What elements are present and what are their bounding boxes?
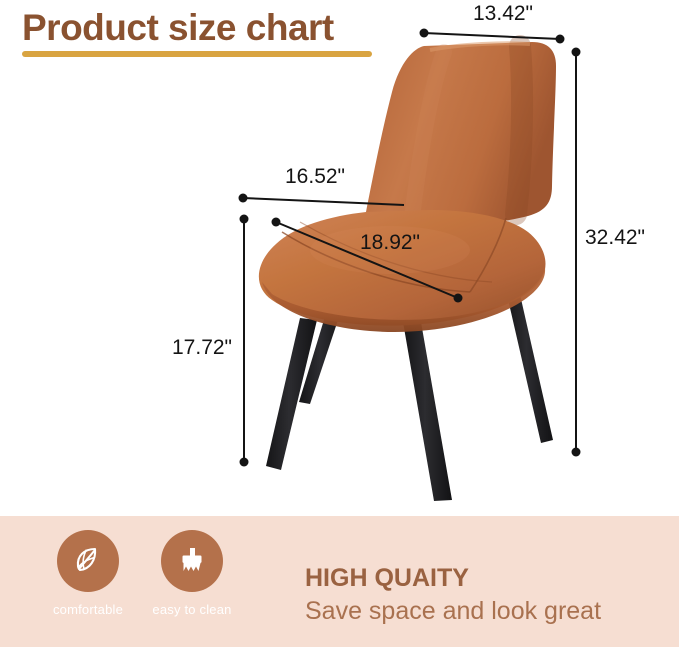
dimension-line-seat-height xyxy=(240,215,249,467)
dimension-line-overall-height xyxy=(572,48,581,457)
chair-diagram xyxy=(0,0,679,520)
dimension-label-overall-width: 13.42" xyxy=(473,2,533,26)
banner-subline: Save space and look great xyxy=(305,594,665,628)
chair-backrest xyxy=(365,42,556,238)
feature-banner: comfortable easy to clean HIGH QUAITY Sa… xyxy=(0,516,679,647)
feature-label-comfortable: comfortable xyxy=(40,602,136,617)
dimension-label-seat-height: 17.72" xyxy=(172,336,232,360)
chair-leg-front-right xyxy=(403,322,452,501)
product-size-chart-page: Product size chart xyxy=(0,0,679,647)
dimension-label-overall-height: 32.42" xyxy=(585,226,645,250)
feature-badge-easy-to-clean xyxy=(161,530,223,592)
dimension-line-overall-width xyxy=(420,29,565,44)
feature-comfortable: comfortable xyxy=(40,530,136,617)
brush-icon xyxy=(175,544,209,578)
banner-text-block: HIGH QUAITY Save space and look great xyxy=(305,562,665,628)
feature-badge-comfortable xyxy=(57,530,119,592)
dimension-label-seat-width: 18.92" xyxy=(360,231,420,255)
backrest-shadow xyxy=(516,46,522,214)
feature-easy-to-clean: easy to clean xyxy=(144,530,240,617)
chair-seat xyxy=(259,210,546,332)
leaf-cushion-icon xyxy=(71,544,105,578)
dimension-label-seat-depth: 16.52" xyxy=(285,165,345,189)
feature-label-easy-to-clean: easy to clean xyxy=(144,602,240,617)
banner-headline: HIGH QUAITY xyxy=(305,562,665,594)
chair-leg-rear-right xyxy=(505,286,553,443)
